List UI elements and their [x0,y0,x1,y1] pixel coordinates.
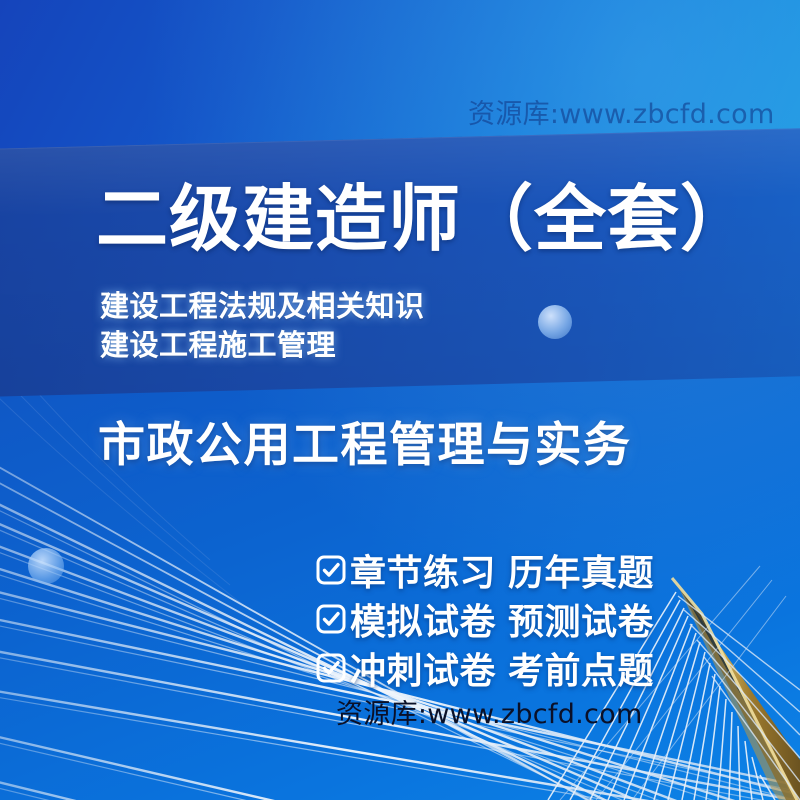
page-title: 二级建造师（全套） [96,184,753,256]
checklist-item-right: 考前点题 [508,642,654,694]
checklist-item-left: 冲刺试卷 [350,642,496,694]
check-square-icon [316,555,346,585]
checklist-item: 章节练习 历年真题 [316,548,654,591]
watermark-bottom: 资源库:www.zbcfd.com [336,692,643,731]
checklist-item: 模拟试卷 预测试卷 [316,597,654,640]
check-square-icon [316,604,346,634]
watermark-top: 资源库:www.zbcfd.com [468,92,775,131]
check-square-icon [316,653,346,683]
subtitle-line-1: 建设工程法规及相关知识 [100,288,425,327]
subtitle-line-2: 建设工程施工管理 [100,327,425,366]
checklist-item-left: 章节练习 [350,544,496,596]
checklist-item-right: 预测试卷 [508,593,654,645]
checklist-item: 冲刺试卷 考前点题 [316,646,654,689]
checklist-item-right: 历年真题 [508,544,654,596]
feature-checklist: 章节练习 历年真题 模拟试卷 预测试卷 冲刺试卷 [316,548,654,695]
major-subject-title: 市政公用工程管理与实务 [98,406,632,475]
subtitle-group: 建设工程法规及相关知识 建设工程施工管理 [100,288,425,365]
poster-canvas: 资源库:www.zbcfd.com 二级建造师（全套） 建设工程法规及相关知识 … [0,0,800,800]
checklist-item-left: 模拟试卷 [350,593,496,645]
